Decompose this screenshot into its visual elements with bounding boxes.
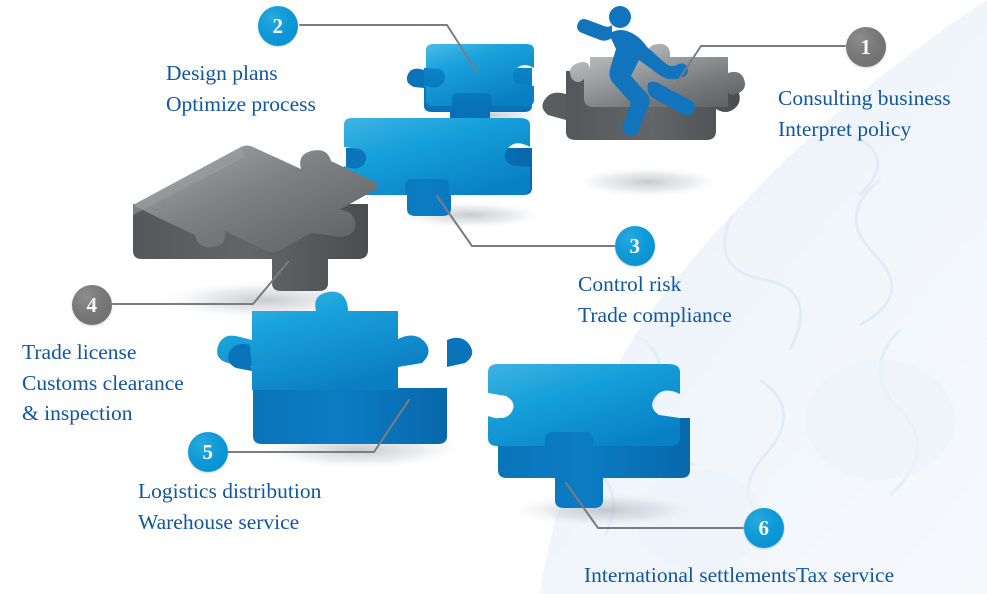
step-label-3: Control risk Trade compliance: [578, 269, 732, 330]
step-badge-1[interactable]: 1: [846, 27, 886, 67]
puzzle-piece-4-gray: [133, 146, 378, 292]
puzzle-piece-3-blue: [344, 118, 532, 216]
step-label-4-line-3: & inspection: [22, 398, 184, 429]
infographic-canvas: 1 2 3 4 5 6 Consulting business Interpre…: [0, 0, 987, 594]
step-label-6-line-1: International settlementsTax service: [584, 560, 894, 591]
step-label-4: Trade license Customs clearance & inspec…: [22, 337, 184, 429]
step-badge-6[interactable]: 6: [744, 508, 784, 548]
step-badge-2[interactable]: 2: [258, 6, 298, 46]
step-label-2-line-1: Design plans: [166, 58, 316, 89]
step-label-5: Logistics distribution Warehouse service: [138, 476, 321, 537]
step-badge-5[interactable]: 5: [188, 432, 228, 472]
step-label-3-line-2: Trade compliance: [578, 300, 732, 331]
step-badge-3[interactable]: 3: [615, 226, 655, 266]
puzzle-piece-5-blue: [217, 292, 472, 444]
step-label-4-line-2: Customs clearance: [22, 368, 184, 399]
step-label-1: Consulting business Interpret policy: [778, 83, 951, 144]
step-label-5-line-2: Warehouse service: [138, 507, 321, 538]
step-label-2-line-2: Optimize process: [166, 89, 316, 120]
step-label-5-line-1: Logistics distribution: [138, 476, 321, 507]
step-label-1-line-1: Consulting business: [778, 83, 951, 114]
step-label-2: Design plans Optimize process: [166, 58, 316, 119]
puzzle-piece-6-blue: [488, 364, 690, 508]
step-label-1-line-2: Interpret policy: [778, 114, 951, 145]
step-label-6: International settlementsTax service: [584, 560, 894, 591]
step-badge-4[interactable]: 4: [72, 285, 112, 325]
step-label-4-line-1: Trade license: [22, 337, 184, 368]
step-label-3-line-1: Control risk: [578, 269, 732, 300]
